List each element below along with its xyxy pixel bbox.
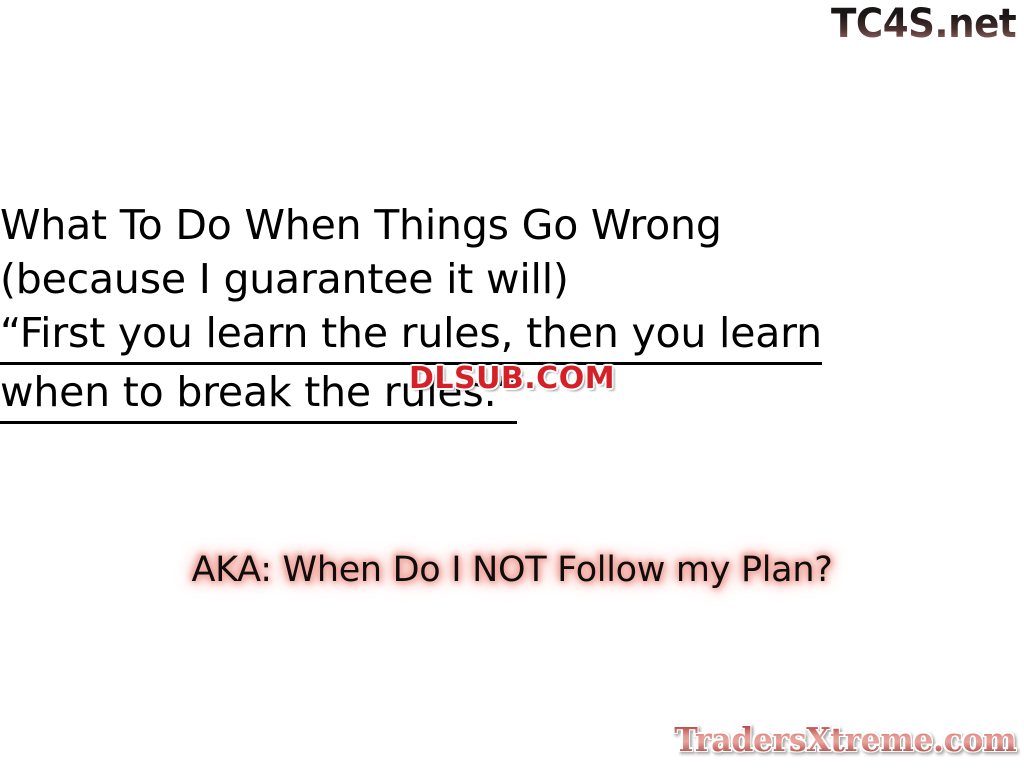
- slide-subtitle-block: AKA: When Do I NOT Follow my Plan?: [0, 548, 1024, 592]
- slide-quote-line-1: “First you learn the rules, then you lea…: [0, 306, 1024, 365]
- dlsub-watermark: DLSUB.COM: [409, 364, 615, 394]
- tc4s-brand-logo: TC4S.net: [831, 2, 1016, 46]
- slide-quote-line-1-text: “First you learn the rules, then you lea…: [0, 306, 822, 365]
- tradersxtreme-brand-logo: TradersXtreme.com: [674, 720, 1016, 760]
- slide-title-line-1: What To Do When Things Go Wrong: [0, 198, 1024, 252]
- slide-title-line-2: (because I guarantee it will): [0, 252, 1024, 306]
- slide-canvas: TC4S.net What To Do When Things Go Wrong…: [0, 0, 1024, 768]
- slide-subtitle: AKA: When Do I NOT Follow my Plan?: [191, 548, 832, 592]
